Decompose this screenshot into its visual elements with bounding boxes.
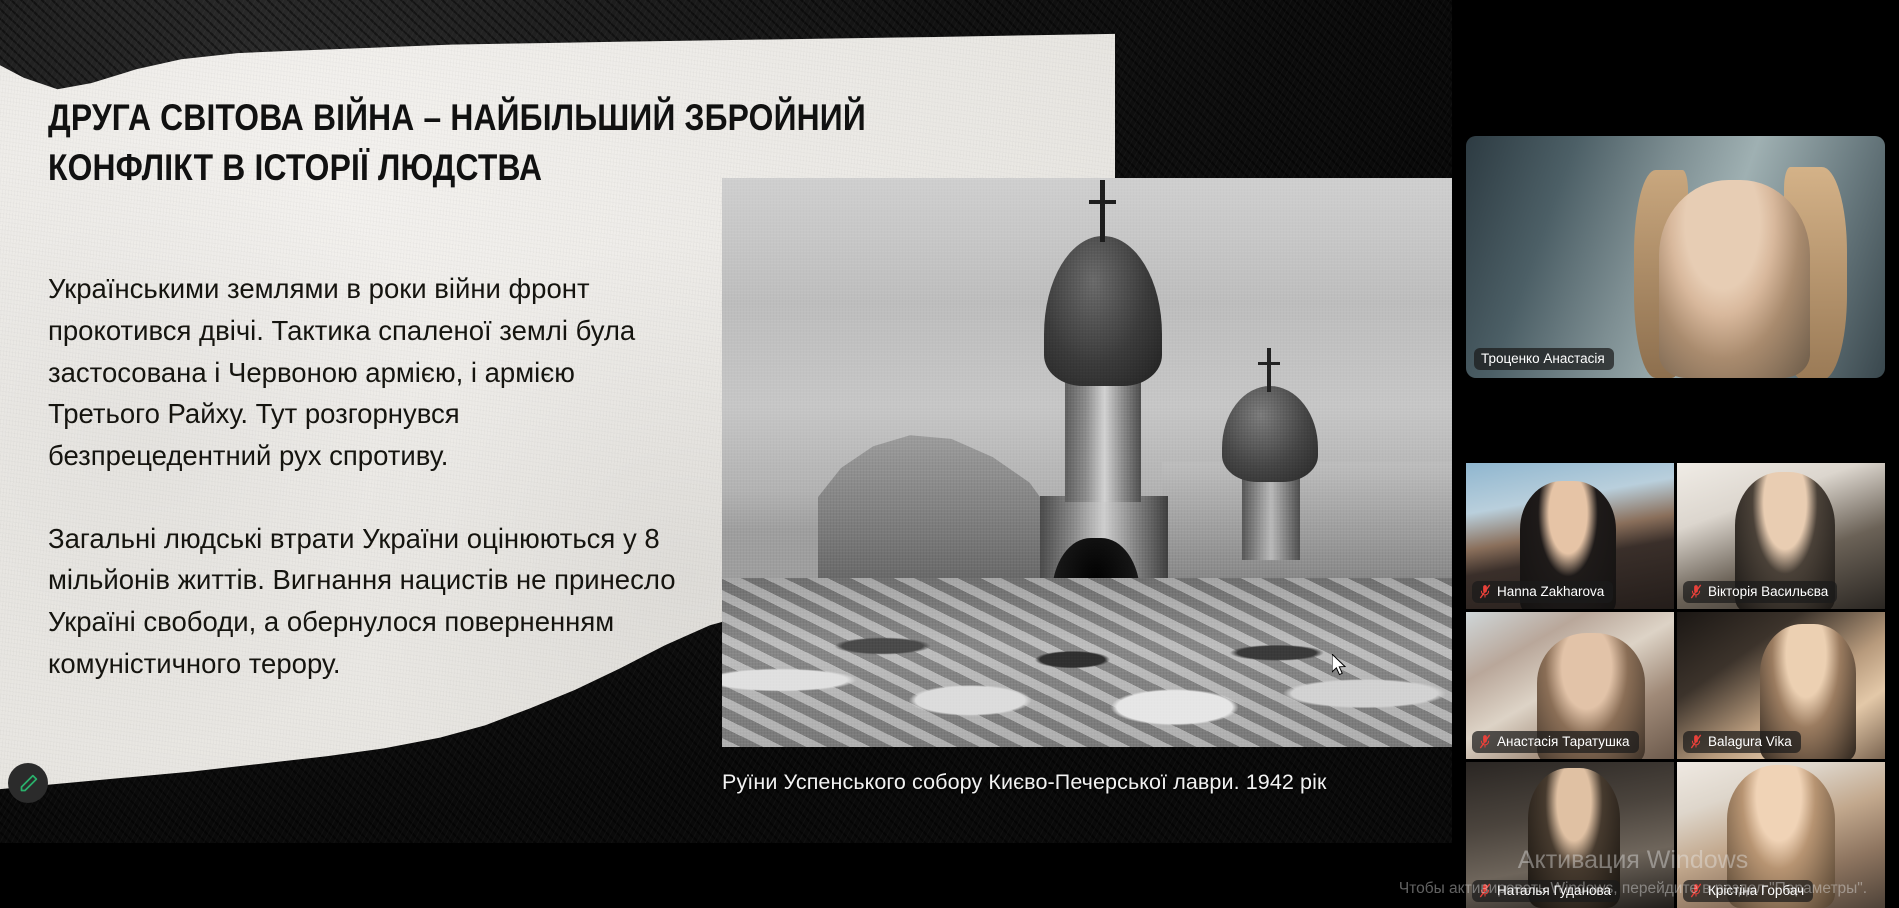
- participant-tile[interactable]: Анастасія Таратушка: [1466, 612, 1674, 758]
- microphone-muted-icon: [1479, 734, 1491, 749]
- participant-tile[interactable]: Вікторія Васильєва: [1677, 463, 1885, 609]
- pencil-icon: [18, 773, 39, 794]
- photo-image: [722, 178, 1452, 747]
- participant-name-chip: Balagura Vika: [1683, 731, 1801, 753]
- active-speaker-name: Троценко Анастасія: [1481, 351, 1605, 366]
- participant-name-chip: Наталья Гуданова: [1472, 880, 1620, 902]
- microphone-muted-icon: [1479, 584, 1491, 599]
- participant-tile[interactable]: Hanna Zakharova: [1466, 463, 1674, 609]
- participant-name: Hanna Zakharova: [1497, 584, 1604, 599]
- slide-paragraph-1: Українськими землями в роки війни фронт …: [48, 268, 688, 477]
- participant-tile[interactable]: Наталья Гуданова: [1466, 762, 1674, 908]
- slide-paragraph-2: Загальні людські втрати України оцінюють…: [48, 518, 688, 685]
- participant-name-chip: Крістіна Горбач: [1683, 880, 1813, 902]
- participant-tile[interactable]: Balagura Vika: [1677, 612, 1885, 758]
- screen-share-meeting-view: ДРУГА СВІТОВА ВІЙНА – НАЙБІЛЬШИЙ ЗБРОЙНИ…: [0, 0, 1899, 908]
- photo-grain-overlay: [722, 178, 1452, 747]
- annotate-pencil-button[interactable]: [8, 763, 48, 803]
- active-speaker-figure: [1659, 180, 1810, 378]
- participant-name-chip: Hanna Zakharova: [1472, 581, 1613, 603]
- microphone-muted-icon: [1690, 584, 1702, 599]
- slide-body-text: Українськими землями в роки війни фронт …: [48, 268, 688, 685]
- active-speaker-video: [1466, 136, 1885, 378]
- participant-strip: Троценко Анастасія Hanna Zakharova: [1452, 0, 1899, 908]
- participant-name-chip: Вікторія Васильєва: [1683, 581, 1837, 603]
- active-speaker-tile[interactable]: Троценко Анастасія: [1466, 136, 1885, 378]
- participant-name: Наталья Гуданова: [1497, 883, 1611, 898]
- microphone-muted-icon: [1479, 883, 1491, 898]
- participant-tile[interactable]: Крістіна Горбач: [1677, 762, 1885, 908]
- microphone-muted-icon: [1690, 734, 1702, 749]
- participant-name: Анастасія Таратушка: [1497, 734, 1630, 749]
- slide-photo-ruins-of-dormition-cathedral: [722, 178, 1452, 747]
- microphone-muted-icon: [1690, 883, 1702, 898]
- participant-name: Вікторія Васильєва: [1708, 584, 1828, 599]
- slide-photo-caption: Руїни Успенського собору Києво-Печерсько…: [722, 770, 1452, 795]
- participant-name: Balagura Vika: [1708, 734, 1792, 749]
- participant-name-chip: Анастасія Таратушка: [1472, 731, 1639, 753]
- participant-grid: Hanna Zakharova Вікторія Васильєва: [1466, 463, 1885, 908]
- shared-slide-area[interactable]: ДРУГА СВІТОВА ВІЙНА – НАЙБІЛЬШИЙ ЗБРОЙНИ…: [0, 0, 1452, 843]
- active-speaker-name-chip: Троценко Анастасія: [1474, 348, 1614, 370]
- participant-name: Крістіна Горбач: [1708, 883, 1804, 898]
